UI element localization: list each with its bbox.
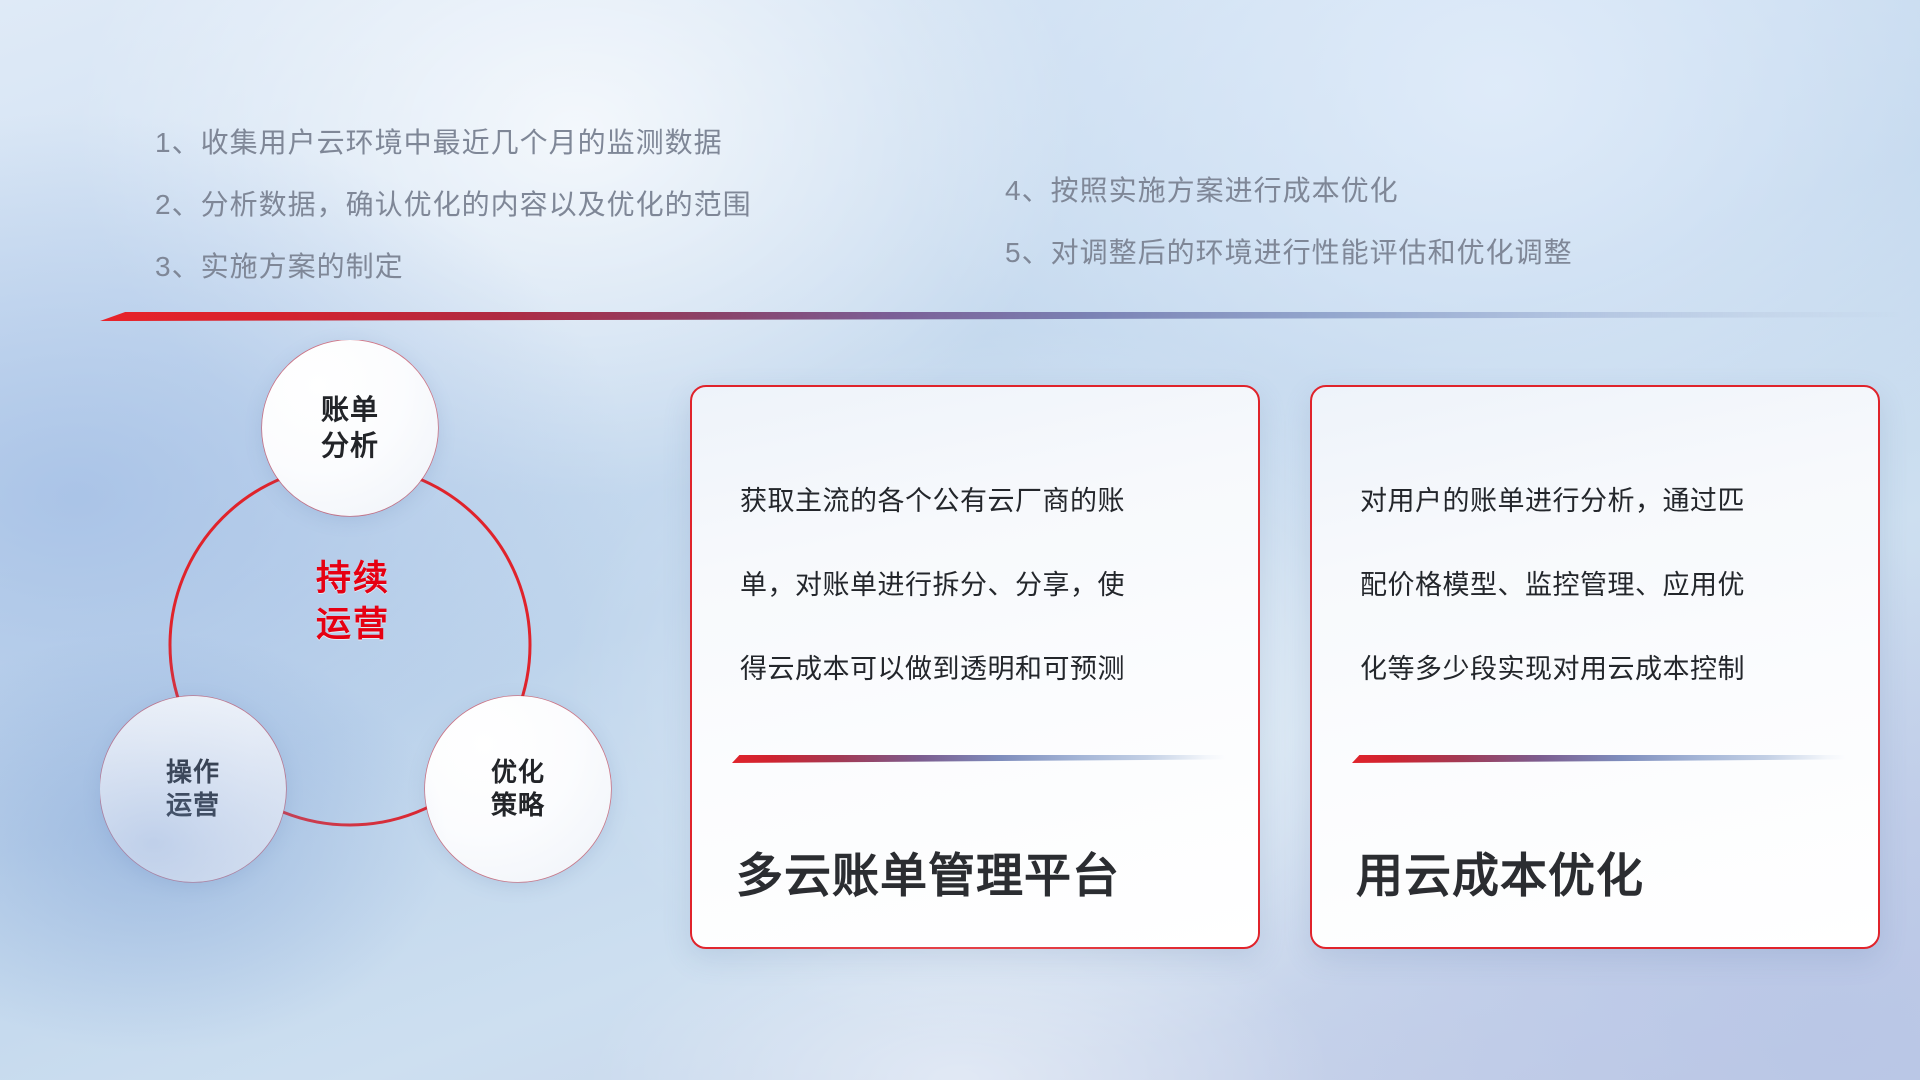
card-body: 对用户的账单进行分析，通过匹 配价格模型、监控管理、应用优 化等多少段实现对用云… <box>1360 459 1842 711</box>
card-body-line: 配价格模型、监控管理、应用优 <box>1360 543 1842 627</box>
venn-bubble-label-line-1: 操作 <box>166 756 220 789</box>
step-item-1: 1、收集用户云环境中最近几个月的监测数据 <box>155 112 752 174</box>
slide-root: 1、收集用户云环境中最近几个月的监测数据 2、分析数据，确认优化的内容以及优化的… <box>0 0 1920 1080</box>
venn-bubble-label-line-2: 策略 <box>491 789 545 822</box>
steps-column-left: 1、收集用户云环境中最近几个月的监测数据 2、分析数据，确认优化的内容以及优化的… <box>155 112 752 298</box>
venn-bubble-bill-analysis[interactable]: 账单 分析 <box>262 340 438 516</box>
card-divider <box>732 755 1226 763</box>
venn-bubble-label-line-1: 账单 <box>321 392 379 428</box>
venn-center-line-1: 持续 <box>258 556 448 602</box>
venn-bubble-operations[interactable]: 操作 运营 <box>100 696 286 882</box>
card-multi-cloud-billing-platform[interactable]: 获取主流的各个公有云厂商的账 单，对账单进行拆分、分享，使 得云成本可以做到透明… <box>690 385 1260 949</box>
card-body-line: 化等多少段实现对用云成本控制 <box>1360 627 1842 711</box>
card-body-line: 获取主流的各个公有云厂商的账 <box>740 459 1222 543</box>
venn-diagram: 账单 分析 操作 运营 优化 策略 持续 运营 <box>100 340 620 960</box>
divider-bar <box>100 312 1900 321</box>
card-body-line: 对用户的账单进行分析，通过匹 <box>1360 459 1842 543</box>
steps-column-right: 4、按照实施方案进行成本优化 5、对调整后的环境进行性能评估和优化调整 <box>1005 160 1573 284</box>
card-title: 多云账单管理平台 <box>736 837 1234 906</box>
card-cloud-cost-optimization[interactable]: 对用户的账单进行分析，通过匹 配价格模型、监控管理、应用优 化等多少段实现对用云… <box>1310 385 1880 949</box>
venn-bubble-optimization-strategy[interactable]: 优化 策略 <box>425 696 611 882</box>
step-item-2: 2、分析数据，确认优化的内容以及优化的范围 <box>155 174 752 236</box>
card-body-line: 得云成本可以做到透明和可预测 <box>740 627 1222 711</box>
venn-bubble-label-line-2: 运营 <box>166 789 220 822</box>
venn-center-line-2: 运营 <box>258 602 448 648</box>
step-item-4: 4、按照实施方案进行成本优化 <box>1005 160 1573 222</box>
venn-bubble-label-line-2: 分析 <box>321 428 379 464</box>
step-item-3: 3、实施方案的制定 <box>155 236 752 298</box>
venn-center-label: 持续 运营 <box>258 556 448 648</box>
card-body-line: 单，对账单进行拆分、分享，使 <box>740 543 1222 627</box>
card-title: 用云成本优化 <box>1356 837 1854 906</box>
steps-section: 1、收集用户云环境中最近几个月的监测数据 2、分析数据，确认优化的内容以及优化的… <box>0 112 1920 312</box>
card-body: 获取主流的各个公有云厂商的账 单，对账单进行拆分、分享，使 得云成本可以做到透明… <box>740 459 1222 711</box>
section-divider <box>100 312 1900 324</box>
card-divider <box>1352 755 1846 763</box>
venn-bubble-label-line-1: 优化 <box>491 756 545 789</box>
step-item-5: 5、对调整后的环境进行性能评估和优化调整 <box>1005 222 1573 284</box>
